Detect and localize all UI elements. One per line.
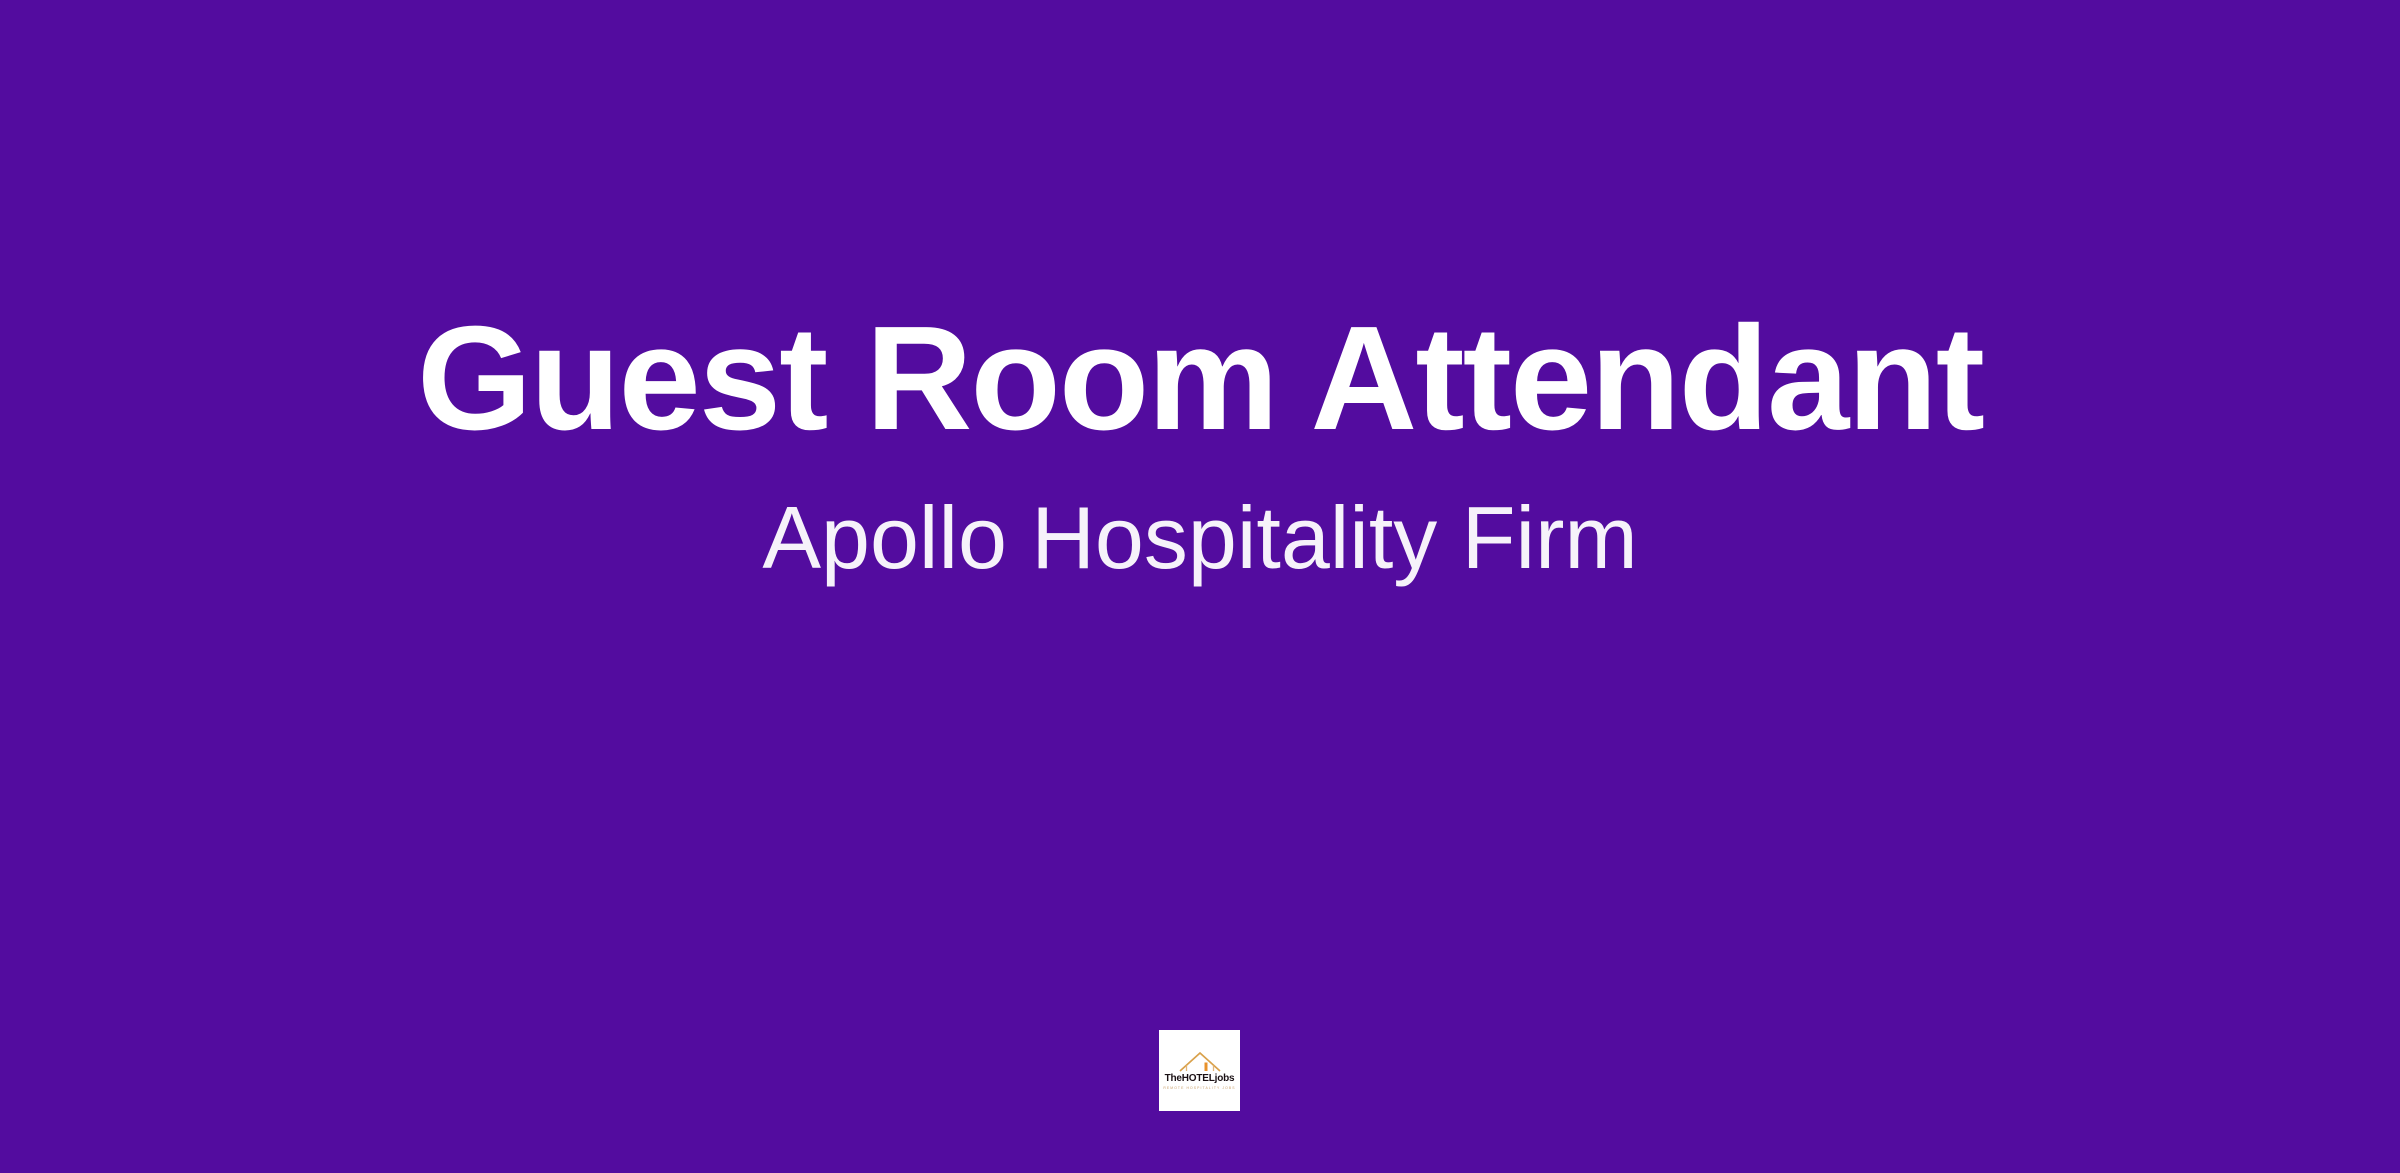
company-name: Apollo Hospitality Firm	[762, 485, 1637, 591]
headline-block: Guest Room Attendant Apollo Hospitality …	[0, 0, 2400, 1010]
logo-wordmark: TheHOTELjobs	[1165, 1074, 1235, 1084]
page-title: Guest Room Attendant	[417, 299, 1983, 459]
logo-tagline: REMOTE HOSPITALITY JOBS	[1163, 1087, 1235, 1090]
job-posting-card: Guest Room Attendant Apollo Hospitality …	[0, 0, 2400, 1173]
house-roof-icon	[1178, 1050, 1222, 1073]
brand-logo: TheHOTELjobs REMOTE HOSPITALITY JOBS	[1159, 1030, 1240, 1111]
